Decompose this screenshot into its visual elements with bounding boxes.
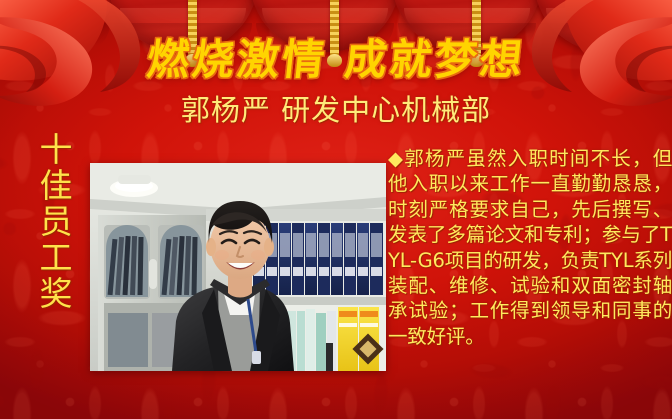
employee-photo bbox=[90, 163, 386, 371]
award-char: 员 bbox=[40, 204, 73, 239]
citation-paragraph: ◆郭杨严虽然入职时间不长，但他入职以来工作一直勤勤恳恳，时刻严格要求自己，先后撰… bbox=[388, 146, 672, 349]
employee-photo-image bbox=[90, 163, 386, 371]
award-title-vertical: 十 佳 员 工 奖 bbox=[34, 132, 78, 311]
award-char: 佳 bbox=[40, 168, 73, 203]
award-char: 工 bbox=[40, 240, 73, 275]
award-poster: 燃烧激情 成就梦想 郭杨严 研发中心机械部 十 佳 员 工 奖 bbox=[0, 0, 672, 419]
poster-headline: 燃烧激情 成就梦想 bbox=[0, 36, 672, 84]
award-char: 奖 bbox=[40, 276, 73, 311]
award-char: 十 bbox=[40, 132, 73, 167]
poster-subtitle: 郭杨严 研发中心机械部 bbox=[0, 92, 672, 128]
citation-text-block: ◆郭杨严虽然入职时间不长，但他入职以来工作一直勤勤恳恳，时刻严格要求自己，先后撰… bbox=[388, 146, 672, 349]
